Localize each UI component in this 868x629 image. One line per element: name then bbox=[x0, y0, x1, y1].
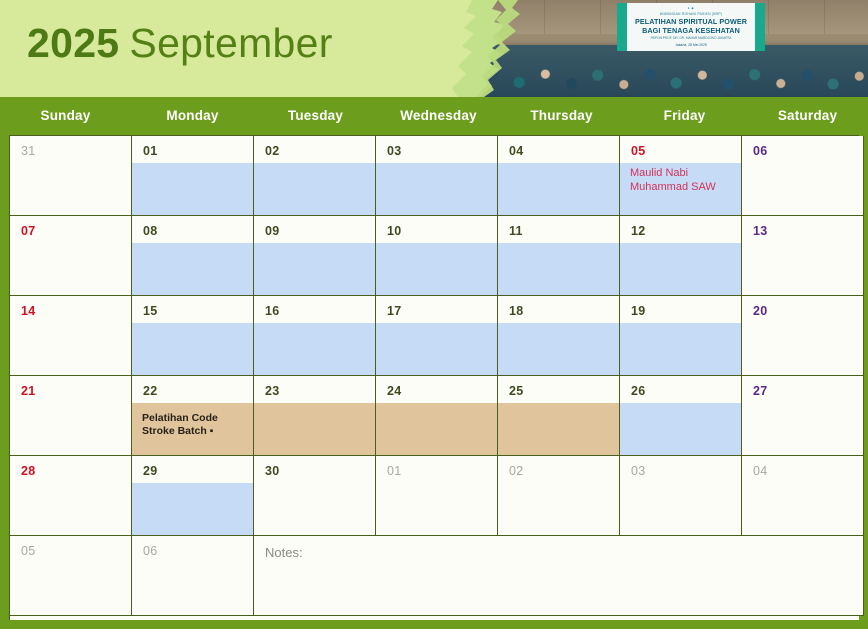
calendar-day-cell[interactable]: 11 bbox=[498, 216, 620, 296]
day-event-block[interactable] bbox=[620, 323, 741, 375]
weekday-monday: Monday bbox=[131, 97, 254, 135]
holiday-label: Maulid Nabi Muhammad SAW bbox=[630, 166, 737, 194]
weekday-tuesday: Tuesday bbox=[254, 97, 377, 135]
day-number: 30 bbox=[265, 464, 280, 478]
day-number: 03 bbox=[631, 464, 646, 478]
calendar-day-cell[interactable]: 07 bbox=[10, 216, 132, 296]
day-number: 08 bbox=[143, 224, 158, 238]
day-number: 10 bbox=[387, 224, 402, 238]
calendar-day-cell[interactable]: 29 bbox=[132, 456, 254, 536]
day-number: 12 bbox=[631, 224, 646, 238]
calendar-day-cell[interactable]: 16 bbox=[254, 296, 376, 376]
calendar-day-cell[interactable]: 21 bbox=[10, 376, 132, 456]
day-number: 13 bbox=[753, 224, 768, 238]
day-number: 17 bbox=[387, 304, 402, 318]
calendar-week-row: 0506Notes: bbox=[10, 536, 859, 616]
day-number: 19 bbox=[631, 304, 646, 318]
calendar-day-cell[interactable]: 13 bbox=[742, 216, 864, 296]
calendar-day-cell[interactable]: 26 bbox=[620, 376, 742, 456]
day-number: 03 bbox=[387, 144, 402, 158]
title-month: September bbox=[129, 20, 332, 66]
calendar-day-cell[interactable]: 22Pelatihan Code Stroke Batch ▪ bbox=[132, 376, 254, 456]
calendar-day-cell[interactable]: 15 bbox=[132, 296, 254, 376]
calendar-day-cell[interactable]: 03 bbox=[376, 136, 498, 216]
day-event-block[interactable] bbox=[498, 403, 619, 455]
day-number: 28 bbox=[21, 464, 36, 478]
calendar-day-cell[interactable]: 10 bbox=[376, 216, 498, 296]
calendar-day-cell[interactable]: 19 bbox=[620, 296, 742, 376]
calendar-page: 2025September ● ◆ BIMBINGAN ROHANI PASIE… bbox=[0, 0, 868, 629]
calendar-day-cell[interactable]: 06 bbox=[742, 136, 864, 216]
banner-title-line1: PELATIHAN SPIRITUAL POWER bbox=[617, 17, 765, 26]
weekday-friday: Friday bbox=[623, 97, 746, 135]
day-event-block[interactable] bbox=[620, 403, 741, 455]
calendar-week-row: 07080910111213 bbox=[10, 216, 859, 296]
calendar-day-cell[interactable]: 06 bbox=[132, 536, 254, 616]
calendar-day-cell[interactable]: 20 bbox=[742, 296, 864, 376]
day-number: 06 bbox=[753, 144, 768, 158]
day-number: 16 bbox=[265, 304, 280, 318]
day-number: 01 bbox=[387, 464, 402, 478]
photo-crowd bbox=[432, 45, 868, 97]
day-event-block[interactable] bbox=[132, 243, 253, 295]
day-event-block[interactable] bbox=[620, 243, 741, 295]
day-event-block[interactable] bbox=[254, 243, 375, 295]
title-year: 2025 bbox=[27, 20, 119, 66]
banner-logos: ● ◆ bbox=[617, 6, 765, 10]
banner-subtitle-top: BIMBINGAN ROHANI PASIEN (BRP) bbox=[617, 12, 765, 16]
day-event-block[interactable] bbox=[376, 323, 497, 375]
day-event-block[interactable] bbox=[132, 483, 253, 535]
day-number: 05 bbox=[21, 544, 36, 558]
calendar-day-cell[interactable]: 17 bbox=[376, 296, 498, 376]
calendar-day-cell[interactable]: 01 bbox=[376, 456, 498, 536]
calendar-day-cell[interactable]: 12 bbox=[620, 216, 742, 296]
day-event-block[interactable] bbox=[498, 323, 619, 375]
day-number: 04 bbox=[753, 464, 768, 478]
weekday-saturday: Saturday bbox=[746, 97, 868, 135]
day-event-block[interactable] bbox=[376, 163, 497, 215]
day-number: 04 bbox=[509, 144, 524, 158]
calendar-week-row: 2122Pelatihan Code Stroke Batch ▪2324252… bbox=[10, 376, 859, 456]
calendar-week-row: 310102030405Maulid Nabi Muhammad SAW06 bbox=[10, 136, 859, 216]
calendar-week-row: 28293001020304 bbox=[10, 456, 859, 536]
event-label: Pelatihan Code Stroke Batch ▪ bbox=[142, 412, 249, 438]
day-event-block[interactable] bbox=[376, 403, 497, 455]
calendar-day-cell[interactable]: 08 bbox=[132, 216, 254, 296]
calendar-day-cell[interactable]: 24 bbox=[376, 376, 498, 456]
calendar-day-cell[interactable]: 18 bbox=[498, 296, 620, 376]
day-number: 07 bbox=[21, 224, 36, 238]
day-number: 26 bbox=[631, 384, 646, 398]
calendar-day-cell[interactable]: 04 bbox=[498, 136, 620, 216]
banner-subtitle-bottom: RSPON PROF. DR. DR. MAHAR MARDJONO JAKAR… bbox=[617, 36, 765, 40]
photo-stage-banner: ● ◆ BIMBINGAN ROHANI PASIEN (BRP) PELATI… bbox=[617, 3, 765, 51]
calendar-day-cell[interactable]: 03 bbox=[620, 456, 742, 536]
day-number: 27 bbox=[753, 384, 768, 398]
calendar-day-cell[interactable]: 09 bbox=[254, 216, 376, 296]
day-event-block[interactable] bbox=[254, 163, 375, 215]
notes-cell[interactable]: Notes: bbox=[254, 536, 864, 616]
calendar-day-cell[interactable]: 02 bbox=[254, 136, 376, 216]
calendar-day-cell[interactable]: 28 bbox=[10, 456, 132, 536]
day-event-block[interactable] bbox=[498, 243, 619, 295]
calendar-day-cell[interactable]: 23 bbox=[254, 376, 376, 456]
day-event-block[interactable] bbox=[498, 163, 619, 215]
calendar-grid: 310102030405Maulid Nabi Muhammad SAW0607… bbox=[9, 135, 859, 620]
day-number: 29 bbox=[143, 464, 158, 478]
day-number: 05 bbox=[631, 144, 646, 158]
calendar-day-cell[interactable]: 01 bbox=[132, 136, 254, 216]
weekday-wednesday: Wednesday bbox=[377, 97, 500, 135]
calendar-day-cell[interactable]: 31 bbox=[10, 136, 132, 216]
day-number: 14 bbox=[21, 304, 36, 318]
weekday-header-bar: Sunday Monday Tuesday Wednesday Thursday… bbox=[0, 97, 868, 135]
calendar-day-cell[interactable]: 27 bbox=[742, 376, 864, 456]
day-number: 02 bbox=[509, 464, 524, 478]
day-event-block[interactable] bbox=[132, 323, 253, 375]
day-number: 15 bbox=[143, 304, 158, 318]
page-title: 2025September bbox=[27, 20, 333, 67]
header-photo: ● ◆ BIMBINGAN ROHANI PASIEN (BRP) PELATI… bbox=[432, 0, 868, 97]
calendar-header: 2025September ● ◆ BIMBINGAN ROHANI PASIE… bbox=[0, 0, 868, 97]
day-event-block[interactable] bbox=[376, 243, 497, 295]
day-number: 21 bbox=[21, 384, 36, 398]
calendar-day-cell[interactable]: 02 bbox=[498, 456, 620, 536]
calendar-day-cell[interactable]: 05Maulid Nabi Muhammad SAW bbox=[620, 136, 742, 216]
calendar-day-cell[interactable]: 04 bbox=[742, 456, 864, 536]
day-number: 20 bbox=[753, 304, 768, 318]
weekday-sunday: Sunday bbox=[0, 97, 131, 135]
banner-title-line2: BAGI TENAGA KESEHATAN bbox=[617, 26, 765, 35]
notes-label: Notes: bbox=[265, 545, 303, 560]
day-event-block[interactable] bbox=[254, 323, 375, 375]
calendar-day-cell[interactable]: 25 bbox=[498, 376, 620, 456]
day-number: 11 bbox=[509, 224, 523, 238]
day-number: 18 bbox=[509, 304, 524, 318]
day-event-block[interactable] bbox=[254, 403, 375, 455]
calendar-day-cell[interactable]: 05 bbox=[10, 536, 132, 616]
day-number: 01 bbox=[143, 144, 158, 158]
day-number: 25 bbox=[509, 384, 524, 398]
day-number: 09 bbox=[265, 224, 280, 238]
day-event-block[interactable] bbox=[132, 163, 253, 215]
day-number: 06 bbox=[143, 544, 158, 558]
calendar-day-cell[interactable]: 30 bbox=[254, 456, 376, 536]
calendar-day-cell[interactable]: 14 bbox=[10, 296, 132, 376]
day-number: 23 bbox=[265, 384, 280, 398]
calendar-week-row: 14151617181920 bbox=[10, 296, 859, 376]
day-number: 24 bbox=[387, 384, 402, 398]
banner-date: Jakarta, 28 Mei 2025 bbox=[617, 43, 765, 47]
day-number: 31 bbox=[21, 144, 36, 158]
day-number: 02 bbox=[265, 144, 280, 158]
day-number: 22 bbox=[143, 384, 158, 398]
weekday-thursday: Thursday bbox=[500, 97, 623, 135]
